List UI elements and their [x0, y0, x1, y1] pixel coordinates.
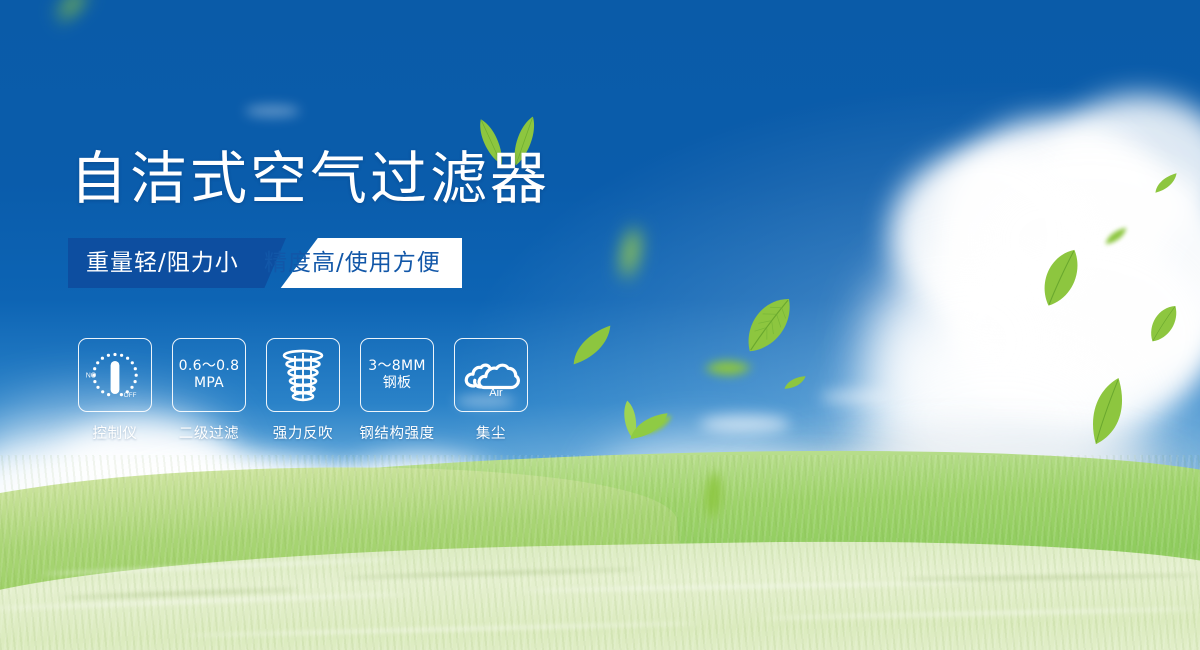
leaf-icon — [1101, 224, 1131, 247]
cloud-wisp — [820, 390, 890, 404]
cloud-air-caption: Air — [489, 387, 503, 396]
cloud-air-icon: Air — [462, 356, 520, 396]
feature-item-dust-collection[interactable]: Air 集尘 — [454, 338, 528, 443]
feature-value-line2: 钢板 — [383, 375, 412, 392]
leaf-icon — [610, 222, 651, 283]
cloud-puff — [875, 300, 1025, 450]
feature-value-line2: MPA — [194, 375, 224, 392]
feature-label: 集尘 — [476, 422, 506, 443]
svg-text:NO: NO — [86, 373, 97, 380]
leaf-icon — [782, 373, 808, 392]
leaf-icon — [1136, 295, 1189, 351]
feature-icon-box — [266, 338, 340, 412]
feature-list: NO OFF 控制仪 0.6～0.8 MPA 二级过滤 — [78, 338, 528, 443]
coil-spring-icon — [275, 347, 331, 403]
cloud-wisp — [700, 415, 790, 433]
svg-text:OFF: OFF — [124, 392, 137, 399]
leaf-icon — [702, 349, 754, 388]
leaf-icon — [1069, 375, 1146, 450]
feature-icon-box: Air — [454, 338, 528, 412]
subtitle-bar: 重量轻/阻力小 精度高/使用方便 — [68, 238, 462, 288]
product-banner: 自洁式空气过滤器 重量轻/阻力小 精度高/使用方便 — [0, 0, 1200, 650]
feature-item-steel-strength[interactable]: 3～8MM 钢板 钢结构强度 — [360, 338, 434, 443]
leaf-icon — [562, 320, 622, 370]
leaf-icon — [725, 280, 812, 368]
page-title: 自洁式空气过滤器 — [70, 148, 550, 212]
feature-label: 钢结构强度 — [359, 422, 435, 443]
leaf-icon — [1150, 169, 1183, 196]
gauge-icon: NO OFF — [84, 344, 146, 406]
feature-label: 控制仪 — [92, 422, 137, 443]
feature-value-line1: 0.6～0.8 — [179, 358, 240, 375]
leaf-icon — [49, 0, 95, 24]
feature-icon-box: NO OFF — [78, 338, 152, 412]
feature-icon-box: 3～8MM 钢板 — [360, 338, 434, 412]
feature-icon-box: 0.6～0.8 MPA — [172, 338, 246, 412]
feature-item-two-stage-filter[interactable]: 0.6～0.8 MPA 二级过滤 — [172, 338, 246, 443]
feature-label: 强力反吹 — [273, 422, 333, 443]
cloud-wisp — [245, 105, 300, 117]
subtitle-left-text: 重量轻/阻力小 — [86, 238, 239, 288]
leaf-icon — [698, 469, 728, 521]
feature-label: 二级过滤 — [179, 422, 239, 443]
leaf-icon — [1023, 237, 1097, 317]
feature-item-reverse-blow[interactable]: 强力反吹 — [266, 338, 340, 443]
subtitle-right-text: 精度高/使用方便 — [264, 238, 441, 288]
cloud-puff — [1050, 95, 1200, 235]
feature-item-control-meter[interactable]: NO OFF 控制仪 — [78, 338, 152, 443]
feature-value-line1: 3～8MM — [368, 358, 425, 375]
